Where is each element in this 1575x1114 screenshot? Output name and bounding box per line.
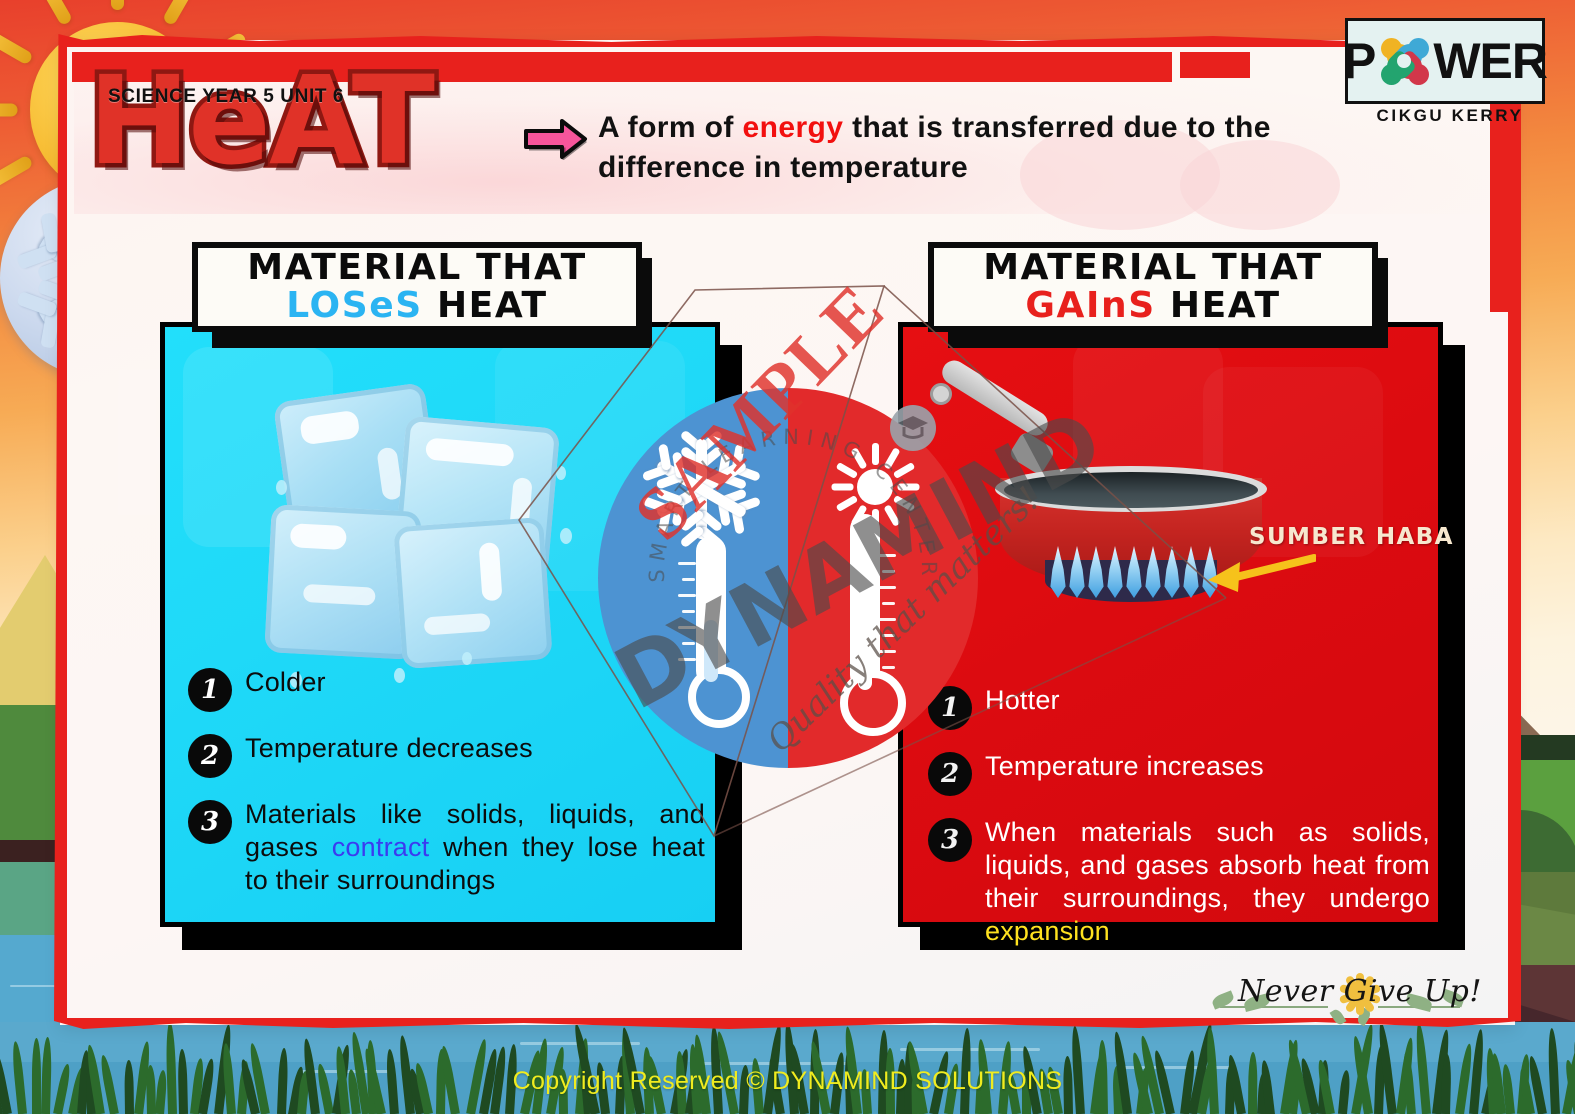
ice-droplet-5 [462,652,472,665]
right-header-highlight: GAInS [1025,285,1155,326]
list-number: 3 [188,800,232,844]
list-item: 2 Temperature increases [928,750,1438,796]
logo-wordmark: P WER [1343,33,1547,89]
watermark-graduation-cap-icon [890,405,936,451]
list-number: 2 [188,734,232,778]
right-header-line2: GAInS HEAT [1025,287,1280,325]
list-text-pre: When materials such as solids, liquids, … [985,817,1430,913]
list-text: When materials such as solids, liquids, … [985,816,1430,948]
left-header-line2: LOSeS HEAT [286,287,547,325]
list-number: 3 [928,818,972,862]
definition-highlight: energy [743,111,844,144]
logo-word-b: WER [1433,36,1547,86]
list-text: Colder [245,666,326,699]
ice-droplet-1 [276,480,287,495]
heat-definition: A form of energy that is transferred due… [598,108,1358,187]
ice-droplet-2 [556,466,566,480]
right-header-line1: MATERIAL THAT [983,249,1323,287]
never-give-up-signature: Never Give Up! [1210,962,1470,1028]
signature-text: Never Give Up! [1238,974,1482,1009]
list-text-highlight: contract [332,832,430,862]
page-kicker: SCIENCE YEAR 5 UNIT 6 [108,86,344,108]
ice-cube-4 [393,517,553,669]
definition-pre: A form of [598,111,743,144]
sumber-haba-arrow-icon [1198,552,1316,598]
right-header-rest: HEAT [1170,285,1281,326]
list-text: Materials like solids, liquids, and gase… [245,798,705,897]
list-text-highlight: expansion [985,916,1110,946]
sumber-haba-label: SUMBER HABA [1249,524,1454,550]
left-header-rest: HEAT [437,285,548,326]
copyright-text: Copyright Reserved © DYNAMIND SOLUTIONS [0,1067,1575,1096]
logo-word-a: P [1343,36,1375,86]
poster-canvas: P R HeAT SCIENCE YEAR 5 UNIT 6 A form of… [0,0,1575,1114]
logo-caption: CIKGU KERRY [1375,106,1525,126]
list-item: 1 Hotter [928,684,1438,730]
left-header-highlight: LOSeS [286,285,423,326]
list-text: Temperature decreases [245,732,533,765]
left-header-line1: MATERIAL THAT [247,249,587,287]
ice-droplet-3 [560,528,572,544]
list-text: Hotter [985,684,1060,717]
right-arrow-icon [524,118,588,165]
logo-people-ring-icon [1376,33,1432,89]
right-panel-list: 1 Hotter 2 Temperature increases 3 When … [928,684,1438,968]
list-item: 3 Materials like solids, liquids, and ga… [188,798,708,897]
list-item: 3 When materials such as solids, liquids… [928,816,1438,948]
list-text: Temperature increases [985,750,1264,783]
list-number: 1 [188,668,232,712]
right-panel-header: MATERIAL THAT GAInS HEAT [928,242,1378,332]
sun-ray [0,104,18,117]
left-panel-header: MATERIAL THAT LOSeS HEAT [192,242,642,332]
page-title: HeAT [88,60,433,182]
power-logo[interactable]: P WER [1345,18,1545,104]
